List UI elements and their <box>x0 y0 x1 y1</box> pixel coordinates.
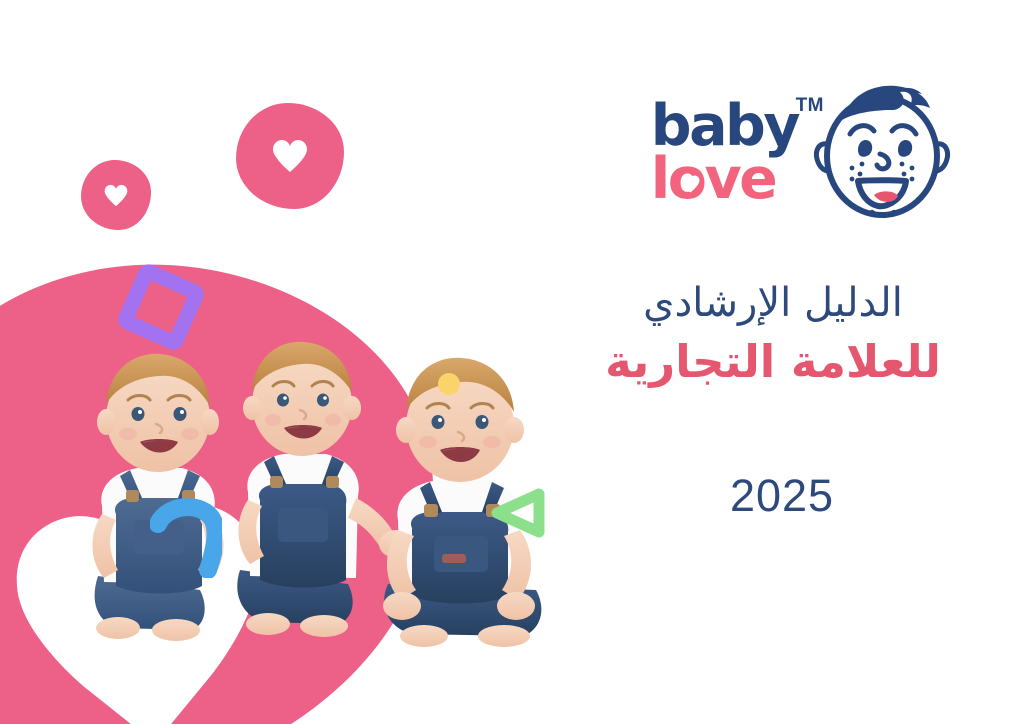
brand-logo: TM baby love <box>612 78 952 228</box>
trademark-symbol: TM <box>796 98 824 114</box>
title-block: الدليل الإرشادي للعلامة التجارية <box>500 278 1024 390</box>
yellow-dot-icon <box>438 373 460 395</box>
cover-page: TM baby love الدليل الإرشادي للعلامة الت… <box>0 0 1024 724</box>
heart-in-o-icon <box>681 175 700 193</box>
baby-face-mascot-icon <box>812 80 952 226</box>
year-label: 2025 <box>500 470 1024 522</box>
logo-wordmark: TM baby love <box>651 102 798 203</box>
logo-word-love-text: love <box>651 146 776 212</box>
heart-circle-large-icon <box>236 103 344 209</box>
logo-word-baby: baby <box>651 102 798 151</box>
blue-boomerang-icon <box>150 498 222 578</box>
rotated-square-outline-icon <box>115 261 207 353</box>
heart-circle-small-icon <box>81 160 151 230</box>
logo-word-love: love <box>651 155 798 204</box>
page-subtitle: للعلامة التجارية <box>522 334 1024 390</box>
content-column: TM baby love الدليل الإرشادي للعلامة الت… <box>500 0 1024 724</box>
pink-blob-heart-cutout <box>0 258 490 724</box>
page-title: الدليل الإرشادي <box>522 278 1024 328</box>
